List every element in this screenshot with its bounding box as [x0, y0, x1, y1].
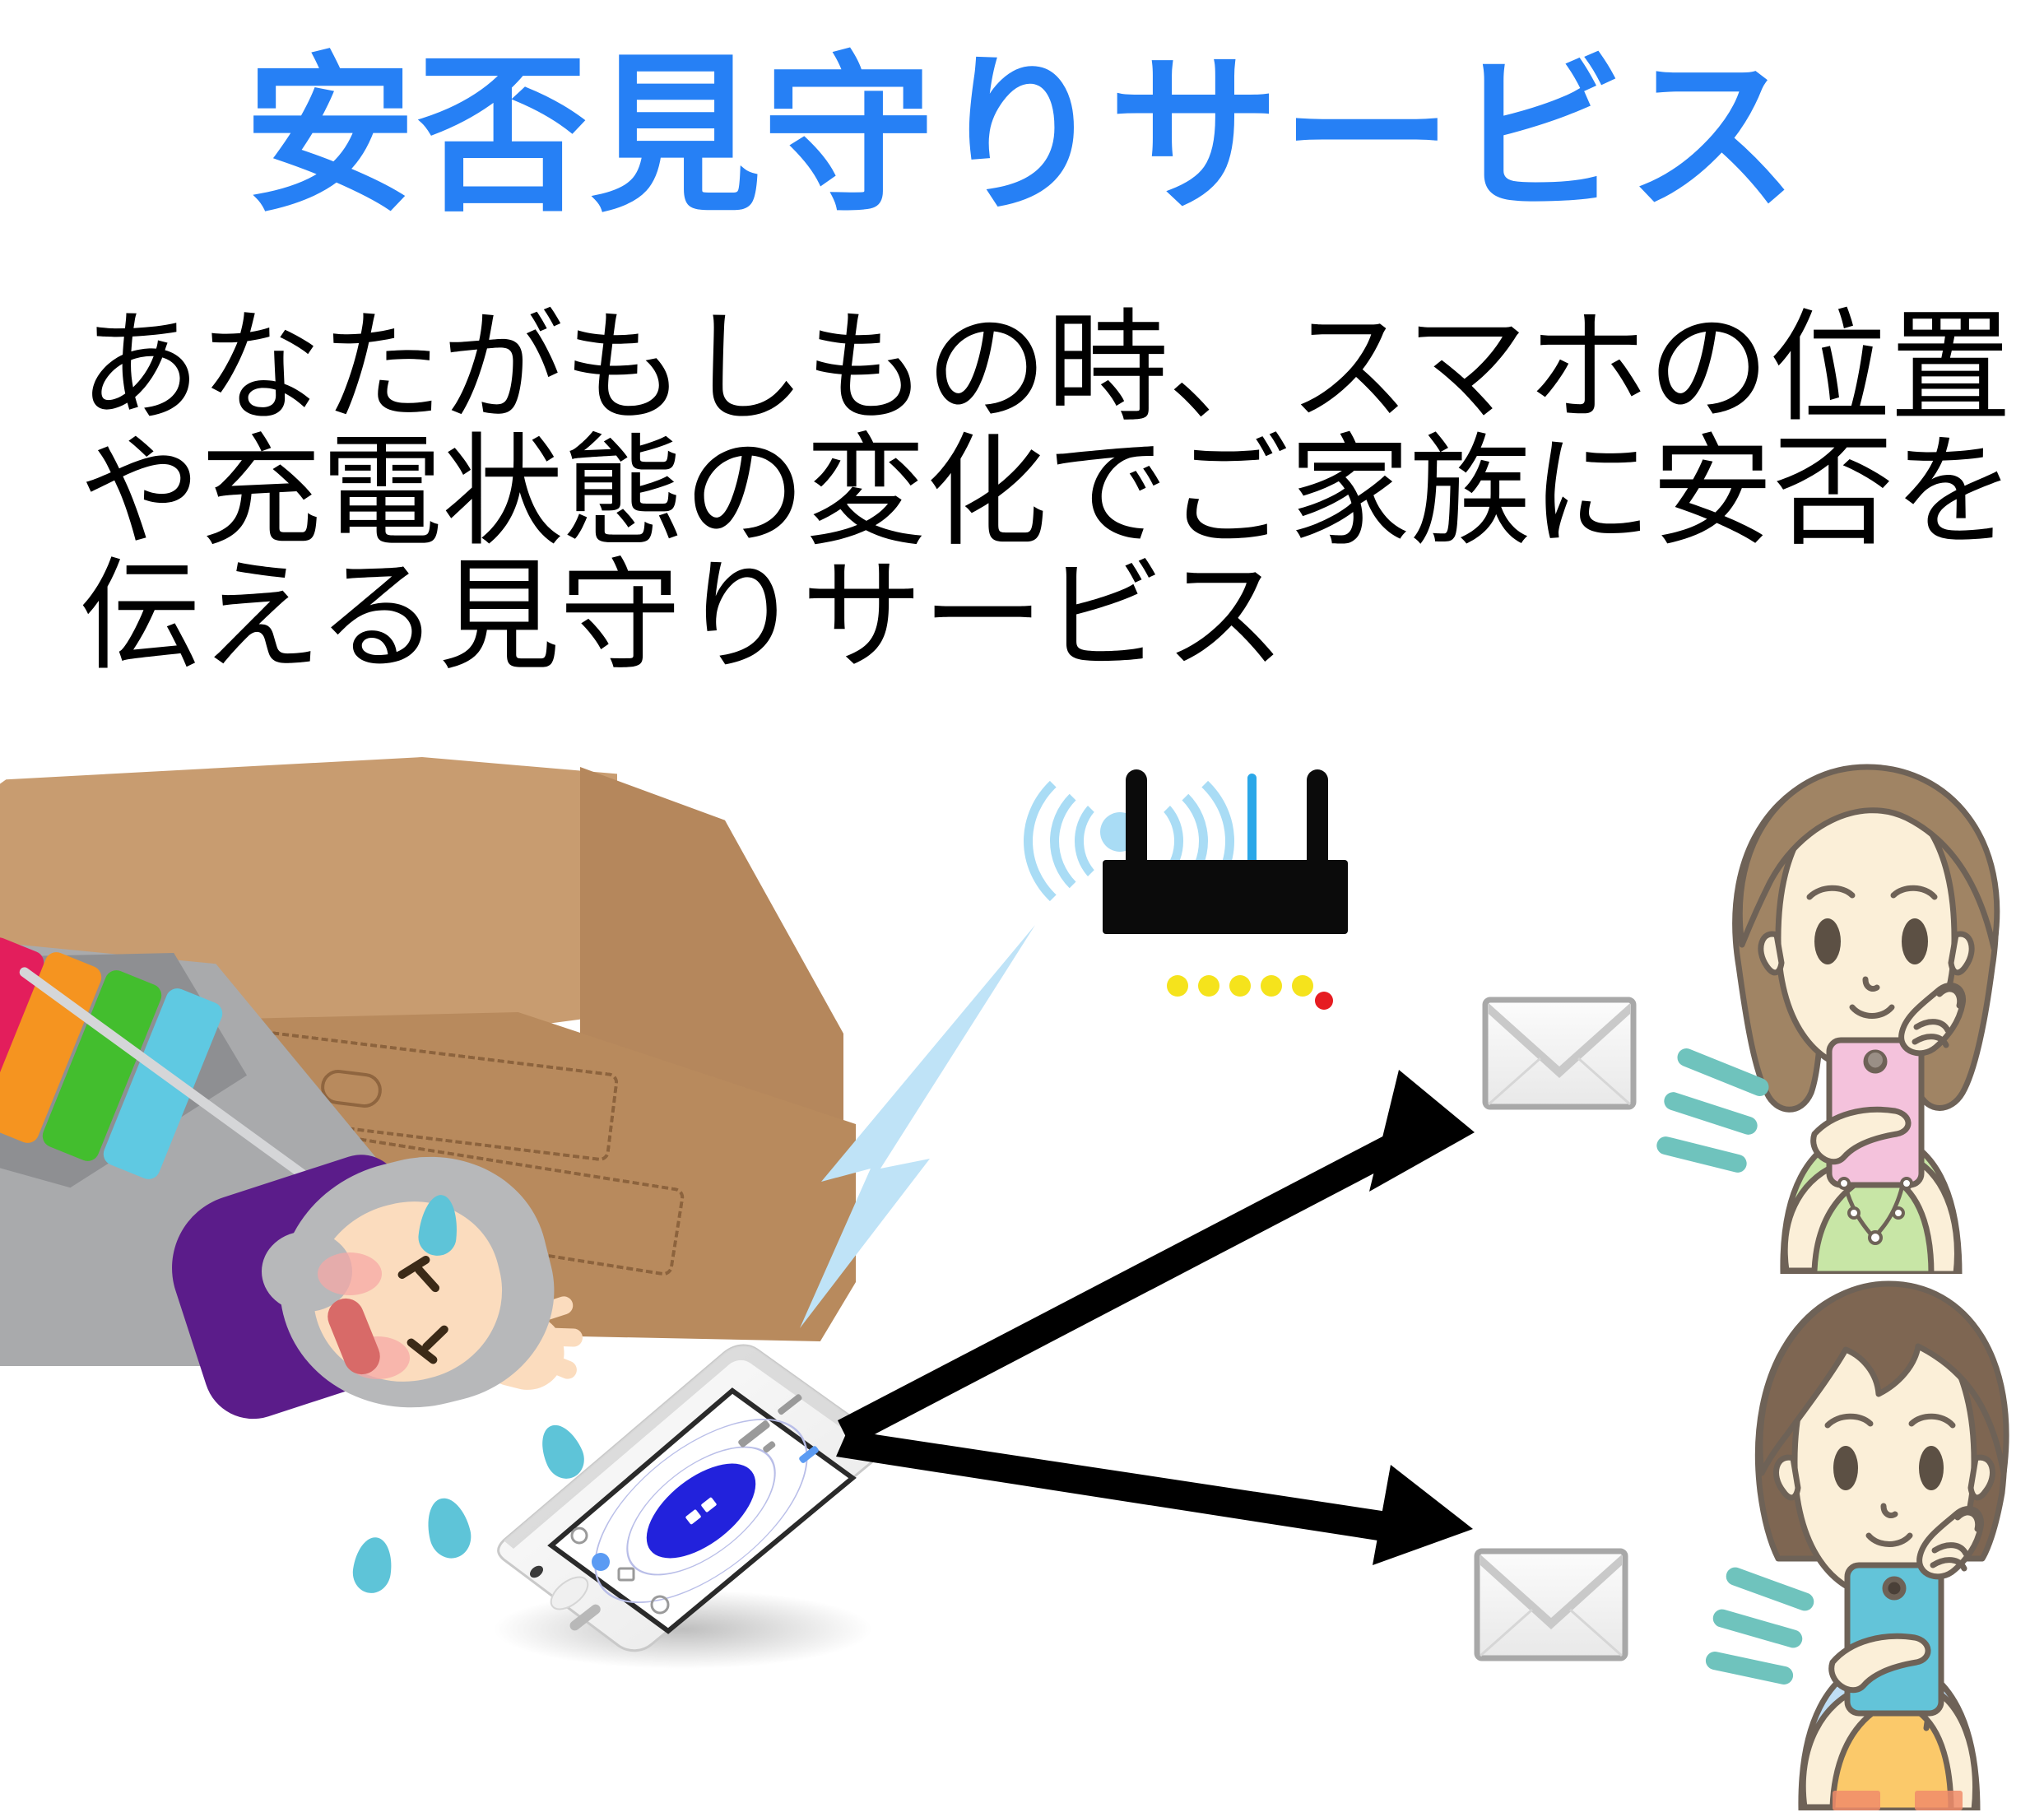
- arrow-head-1: [1369, 1070, 1475, 1192]
- mail-envelope-icon: [1473, 1547, 1629, 1662]
- description-line-2: や充電状態の変化でご家族に安否を: [79, 430, 1996, 555]
- description-line-3: 伝える見守りサービス: [79, 555, 1996, 679]
- elderly-woman-cheek-blush: [318, 1252, 382, 1295]
- notification-arrows: [823, 1020, 1531, 1613]
- page-description: あなたがもしもの時、スマホの位置 や充電状態の変化でご家族に安否を 伝える見守り…: [79, 306, 1996, 679]
- router-body: [1103, 860, 1348, 934]
- mail-envelope-icon: [1481, 996, 1638, 1111]
- router-antenna: [1126, 769, 1147, 875]
- router-indicator-bar: [1247, 774, 1257, 871]
- illustration-scene: [0, 691, 2044, 1817]
- router-led: [1229, 975, 1251, 997]
- wifi-router-icon: [1103, 769, 1350, 934]
- sweat-drop-icon: [350, 1535, 395, 1596]
- arrow-to-recipient-2: [836, 1430, 1404, 1544]
- router-led: [1292, 975, 1313, 997]
- recipient-son-figure: [1716, 1267, 2044, 1810]
- page-title: 安否見守りサービス: [0, 51, 2044, 222]
- router-led: [1167, 975, 1188, 997]
- router-led: [1198, 975, 1219, 997]
- router-led: [1261, 975, 1282, 997]
- router-alert-led: [1315, 992, 1333, 1010]
- recipient-daughter-figure: [1691, 747, 2037, 1274]
- description-line-1: あなたがもしもの時、スマホの位置: [79, 306, 1996, 430]
- arrow-head-2: [1373, 1465, 1473, 1565]
- router-antenna: [1307, 769, 1328, 875]
- arrow-to-recipient-1: [838, 1134, 1399, 1447]
